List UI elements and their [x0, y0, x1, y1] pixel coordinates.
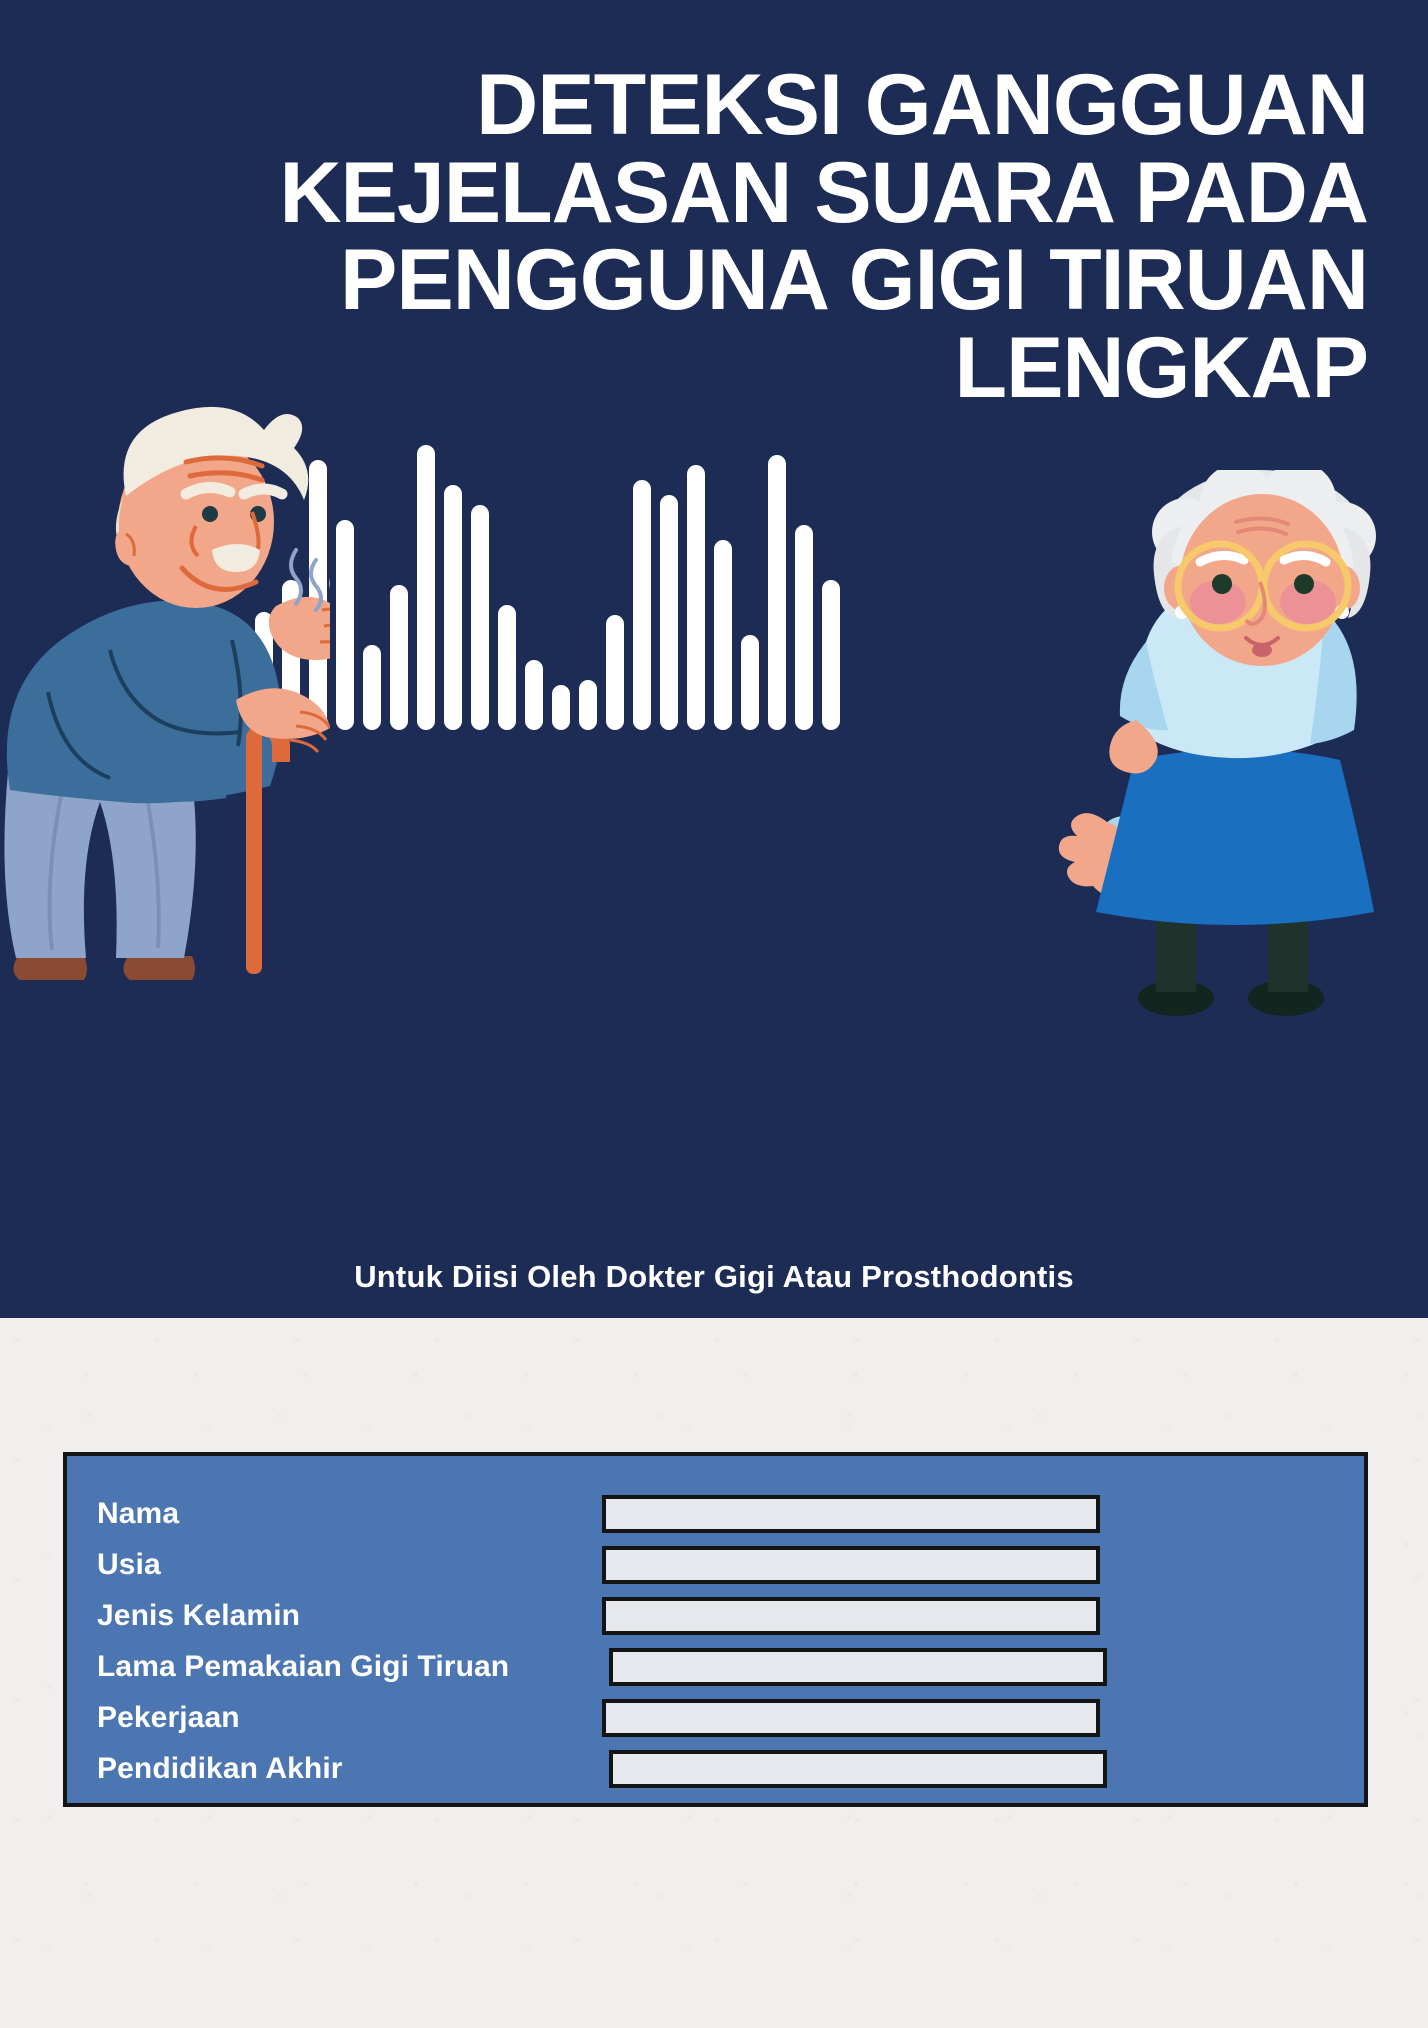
input-pekerjaan[interactable] — [602, 1699, 1100, 1737]
form-row: Pekerjaan — [97, 1692, 1337, 1743]
waveform-bar — [822, 580, 840, 730]
waveform-bar — [768, 455, 786, 730]
sound-waveform — [255, 440, 855, 730]
form-row: Nama — [97, 1488, 1337, 1539]
page-title: DETEKSI GANGGUAN KEJELASAN SUARA PADA PE… — [0, 62, 1398, 413]
input-jenis-kelamin[interactable] — [602, 1597, 1100, 1635]
label-lama-pemakaian: Lama Pemakaian Gigi Tiruan — [97, 1650, 509, 1684]
waveform-bar — [471, 505, 489, 730]
waveform-bar — [687, 465, 705, 730]
label-pekerjaan: Pekerjaan — [97, 1701, 240, 1735]
waveform-bar — [417, 445, 435, 730]
waveform-bar — [525, 660, 543, 730]
label-pendidikan-akhir: Pendidikan Akhir — [97, 1752, 343, 1786]
waveform-bar — [444, 485, 462, 730]
label-jenis-kelamin: Jenis Kelamin — [97, 1599, 300, 1633]
waveform-bar — [741, 635, 759, 730]
elderly-man-illustration — [0, 400, 330, 1020]
waveform-bar — [795, 525, 813, 730]
form-row: Lama Pemakaian Gigi Tiruan — [97, 1641, 1337, 1692]
waveform-bar — [579, 680, 597, 730]
hero-subtitle: Untuk Diisi Oleh Dokter Gigi Atau Prosth… — [0, 1259, 1428, 1295]
label-usia: Usia — [97, 1548, 161, 1582]
label-nama: Nama — [97, 1497, 179, 1531]
waveform-bar — [336, 520, 354, 730]
waveform-bar — [390, 585, 408, 730]
form-row: Pendidikan Akhir — [97, 1743, 1337, 1794]
waveform-bar — [606, 615, 624, 730]
waveform-bar — [498, 605, 516, 730]
form-rows: Nama Usia Jenis Kelamin Lama Pemakaian G… — [97, 1488, 1337, 1794]
waveform-bar — [552, 685, 570, 730]
patient-info-form: Nama Usia Jenis Kelamin Lama Pemakaian G… — [63, 1452, 1368, 1807]
input-pendidikan-akhir[interactable] — [609, 1750, 1107, 1788]
input-usia[interactable] — [602, 1546, 1100, 1584]
input-nama[interactable] — [602, 1495, 1100, 1533]
input-lama-pemakaian[interactable] — [609, 1648, 1107, 1686]
form-row: Jenis Kelamin — [97, 1590, 1337, 1641]
waveform-bar — [660, 495, 678, 730]
waveform-bar — [714, 540, 732, 730]
hero-banner: DETEKSI GANGGUAN KEJELASAN SUARA PADA PE… — [0, 0, 1428, 1318]
elderly-woman-illustration — [1090, 470, 1428, 1030]
form-row: Usia — [97, 1539, 1337, 1590]
waveform-bar — [363, 645, 381, 730]
waveform-bar — [633, 480, 651, 730]
